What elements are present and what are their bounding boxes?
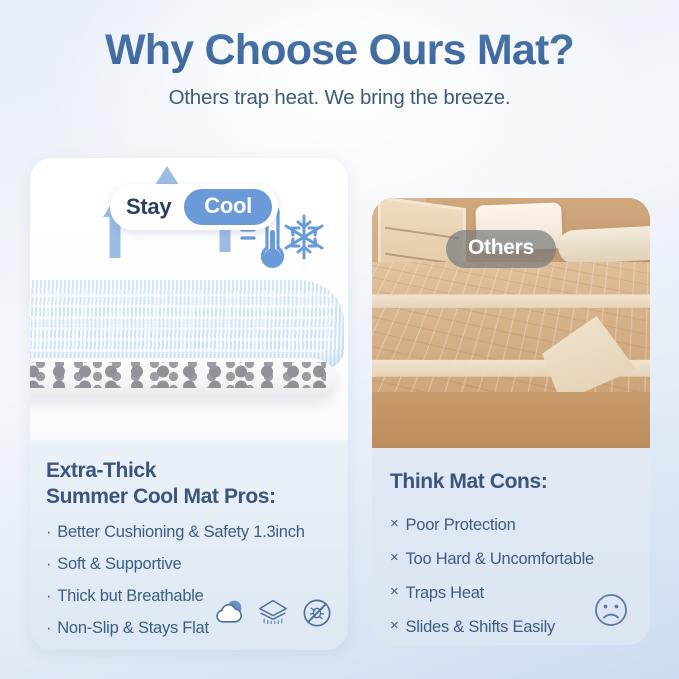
photo-bed-front	[372, 392, 650, 448]
pros-heading-line-1: Extra-Thick	[46, 458, 332, 484]
cons-heading: Think Mat Cons:	[390, 470, 634, 494]
cloud-soft-icon	[214, 598, 244, 628]
photo-mat-stripe	[372, 294, 650, 307]
list-item-label: Thick but Breathable	[57, 587, 203, 605]
cross-marker: ×	[390, 550, 399, 568]
list-item: · Soft & Supportive	[46, 555, 332, 573]
competitor-mat-photo: Others	[372, 198, 650, 448]
page-title: Why Choose Ours Mat?	[0, 26, 679, 74]
cross-marker: ×	[390, 516, 399, 534]
mattress-quilt-texture	[30, 290, 334, 352]
bullet-marker: ·	[46, 619, 51, 637]
anti-mite-icon	[302, 598, 332, 628]
foam-pores-texture	[30, 362, 326, 388]
badge-word-cool: Cool	[184, 189, 272, 225]
list-item-label: Too Hard & Uncomfortable	[406, 550, 594, 568]
list-item-label: Non-Slip & Stays Flat	[57, 619, 209, 637]
list-item: · Better Cushioning & Safety 1.3inch	[46, 523, 332, 541]
cross-marker: ×	[390, 618, 399, 636]
feature-icon-row	[214, 598, 332, 628]
mattress-foam-base	[30, 358, 336, 398]
list-item: × Too Hard & Uncomfortable	[390, 550, 634, 568]
pros-heading-line-2: Summer Cool Mat Pros:	[46, 484, 332, 510]
sad-face-icon	[594, 593, 628, 627]
list-item-label: Slides & Shifts Easily	[406, 618, 555, 636]
pros-card: Stay Cool Extra-Thick Summer Cool Mat Pr…	[30, 158, 348, 650]
pros-text-area: Extra-Thick Summer Cool Mat Pros: · Bett…	[30, 440, 348, 650]
cons-card: Others Think Mat Cons: × Poor Protection…	[372, 198, 650, 645]
bullet-marker: ·	[46, 523, 51, 541]
list-item-label: Poor Protection	[406, 516, 516, 534]
list-item-label: Soft & Supportive	[57, 555, 181, 573]
stay-cool-badge[interactable]: Stay Cool	[110, 184, 278, 230]
others-badge[interactable]: Others	[446, 230, 556, 268]
bullet-marker: ·	[46, 555, 51, 573]
product-illustration-panel: Stay Cool	[30, 158, 348, 440]
cool-mattress-illustration	[30, 280, 344, 412]
page-subtitle: Others trap heat. We bring the breeze.	[0, 86, 679, 110]
list-item-label: Better Cushioning & Safety 1.3inch	[57, 523, 304, 541]
pros-heading: Extra-Thick Summer Cool Mat Pros:	[46, 458, 332, 511]
cons-text-area: Think Mat Cons: × Poor Protection × Too …	[372, 448, 650, 645]
cross-marker: ×	[390, 584, 399, 602]
infographic-page: Why Choose Ours Mat? Others trap heat. W…	[0, 0, 679, 679]
header: Why Choose Ours Mat? Others trap heat. W…	[0, 26, 679, 110]
photo-bolster	[557, 225, 650, 265]
list-item: × Poor Protection	[390, 516, 634, 534]
bullet-marker: ·	[46, 587, 51, 605]
list-item-label: Traps Heat	[406, 584, 485, 602]
layered-breathable-icon	[258, 598, 288, 628]
badge-word-stay: Stay	[126, 194, 171, 220]
